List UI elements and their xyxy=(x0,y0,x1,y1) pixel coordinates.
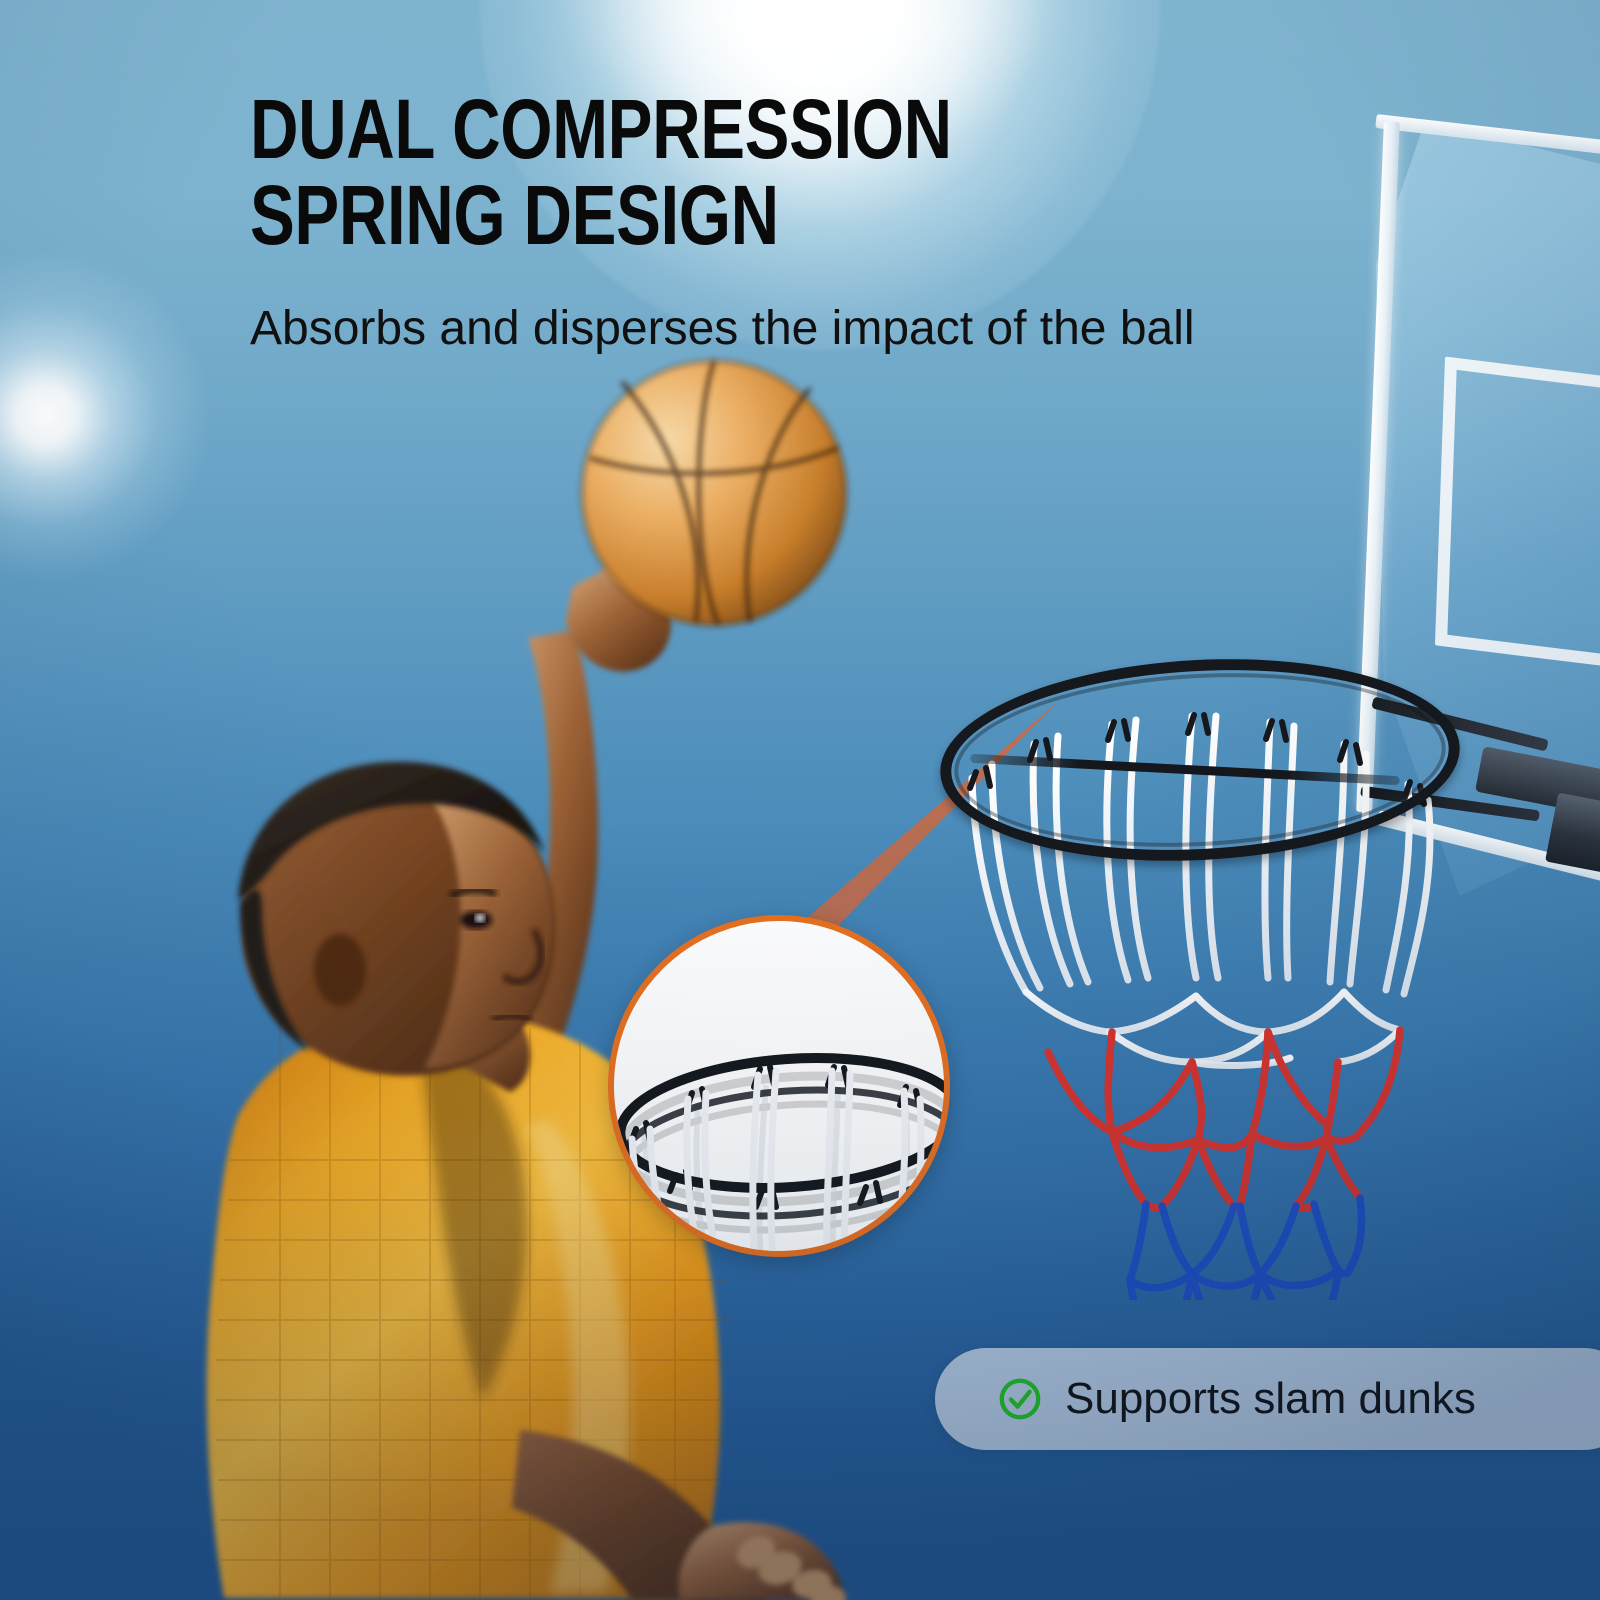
background-vignette xyxy=(0,0,1600,1600)
product-banner: DUAL COMPRESSION SPRING DESIGN Absorbs a… xyxy=(0,0,1600,1600)
